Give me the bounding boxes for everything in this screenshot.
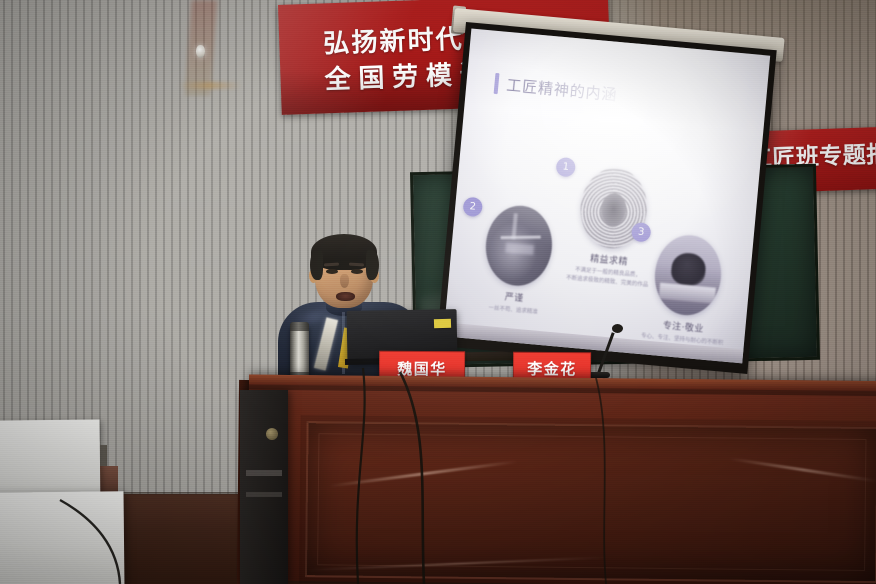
vacuum-flask-cap [290,322,309,331]
screen-surface: 工匠精神的内涵 1 精益求精 不满足于一般的精良品质， 不断追求极致的精致、完美… [443,29,770,364]
white-desk-front [0,491,124,584]
wall-streak [178,82,242,89]
slide-node-3-image [651,232,724,318]
podium-panel-inner-border [317,433,866,571]
gooseneck-microphone-head [612,324,623,333]
speaker-eye-right [351,269,363,274]
speaker-mouth [336,292,355,301]
av-tower-shelf-1 [246,470,282,476]
speaker-eye-left [326,269,338,274]
projection-screen: 工匠精神的内涵 1 精益求精 不满足于一般的精良品质， 不断追求极致的精致、完美… [437,22,777,374]
slide-node-2-badge: 2 [462,197,483,218]
av-tower-shelf-2 [246,492,282,497]
laptop-sticker [434,319,451,329]
av-tower-knob [266,428,278,440]
gooseneck-microphone-base [588,372,610,378]
speaker-hair-right [366,250,379,280]
slide-node-1-desc: 不满足于一般的精良品质， 不断追求极致的精致、完美的作品 [562,265,653,292]
nameplate-secondary-text: 李金花 [527,358,577,379]
lecture-hall-photo: 弘扬新时代工匠 全国劳模进 工匠班专题报告 工匠精神的内涵 1 [0,0,876,584]
slide-node-1-badge: 1 [555,157,576,178]
wall-light-fixture [196,45,205,58]
wooden-podium [247,375,876,584]
slide-node-2: 2 严谨 一丝不苟、追求精准 [468,202,568,320]
slide-title-accent-bar [494,73,500,94]
presentation-slide: 工匠精神的内涵 1 精益求精 不满足于一般的精良品质， 不断追求极致的精致、完美… [443,29,770,364]
slide-title-row: 工匠精神的内涵 [494,73,619,105]
av-equipment-tower [240,390,288,584]
slide-node-2-image [482,203,555,289]
speaker-nose [340,274,349,288]
speaker-hair-left [310,250,323,280]
slide-title: 工匠精神的内涵 [506,74,619,105]
slide-node-3-badge: 3 [631,222,652,243]
slide-node-2-artwork-bar [501,236,541,240]
